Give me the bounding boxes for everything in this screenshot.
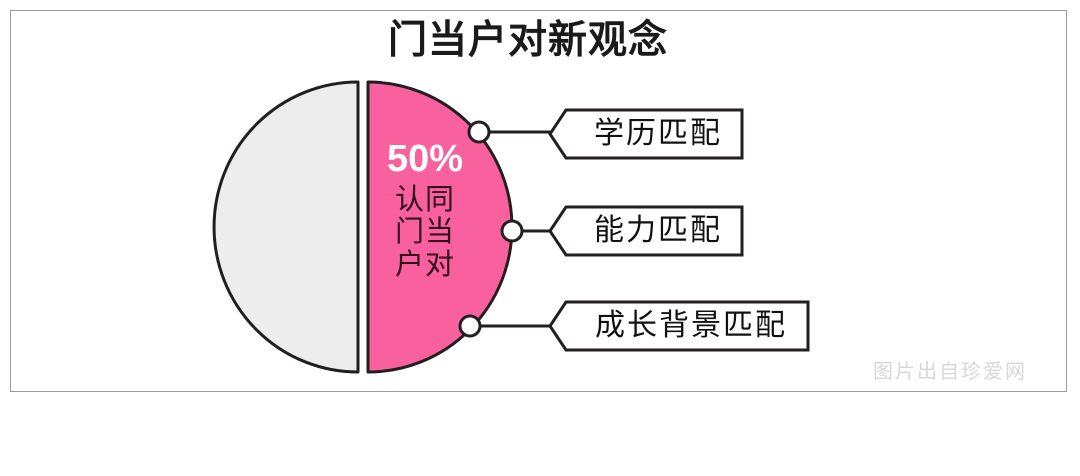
pie-slice-agree xyxy=(368,82,512,372)
callout-education-match[interactable]: 学历匹配 xyxy=(548,108,744,160)
content-frame-border xyxy=(10,10,1067,392)
page-title: 门当户对新观念 xyxy=(388,18,808,65)
infographic-root: 门当户对新观念 50% 认同 门当 户对 学历匹配 xyxy=(0,0,1080,476)
pie-chart xyxy=(212,76,524,378)
callout-label-1: 学历匹配 xyxy=(582,108,734,160)
callout-label-3: 成长背景匹配 xyxy=(582,300,800,352)
watermark-text: 图片出自珍爱网 xyxy=(873,355,1027,384)
callout-background-match[interactable]: 成长背景匹配 xyxy=(548,300,810,352)
pie-slice-other xyxy=(214,82,358,372)
callout-ability-match[interactable]: 能力匹配 xyxy=(548,205,744,257)
callout-label-2: 能力匹配 xyxy=(582,205,734,257)
